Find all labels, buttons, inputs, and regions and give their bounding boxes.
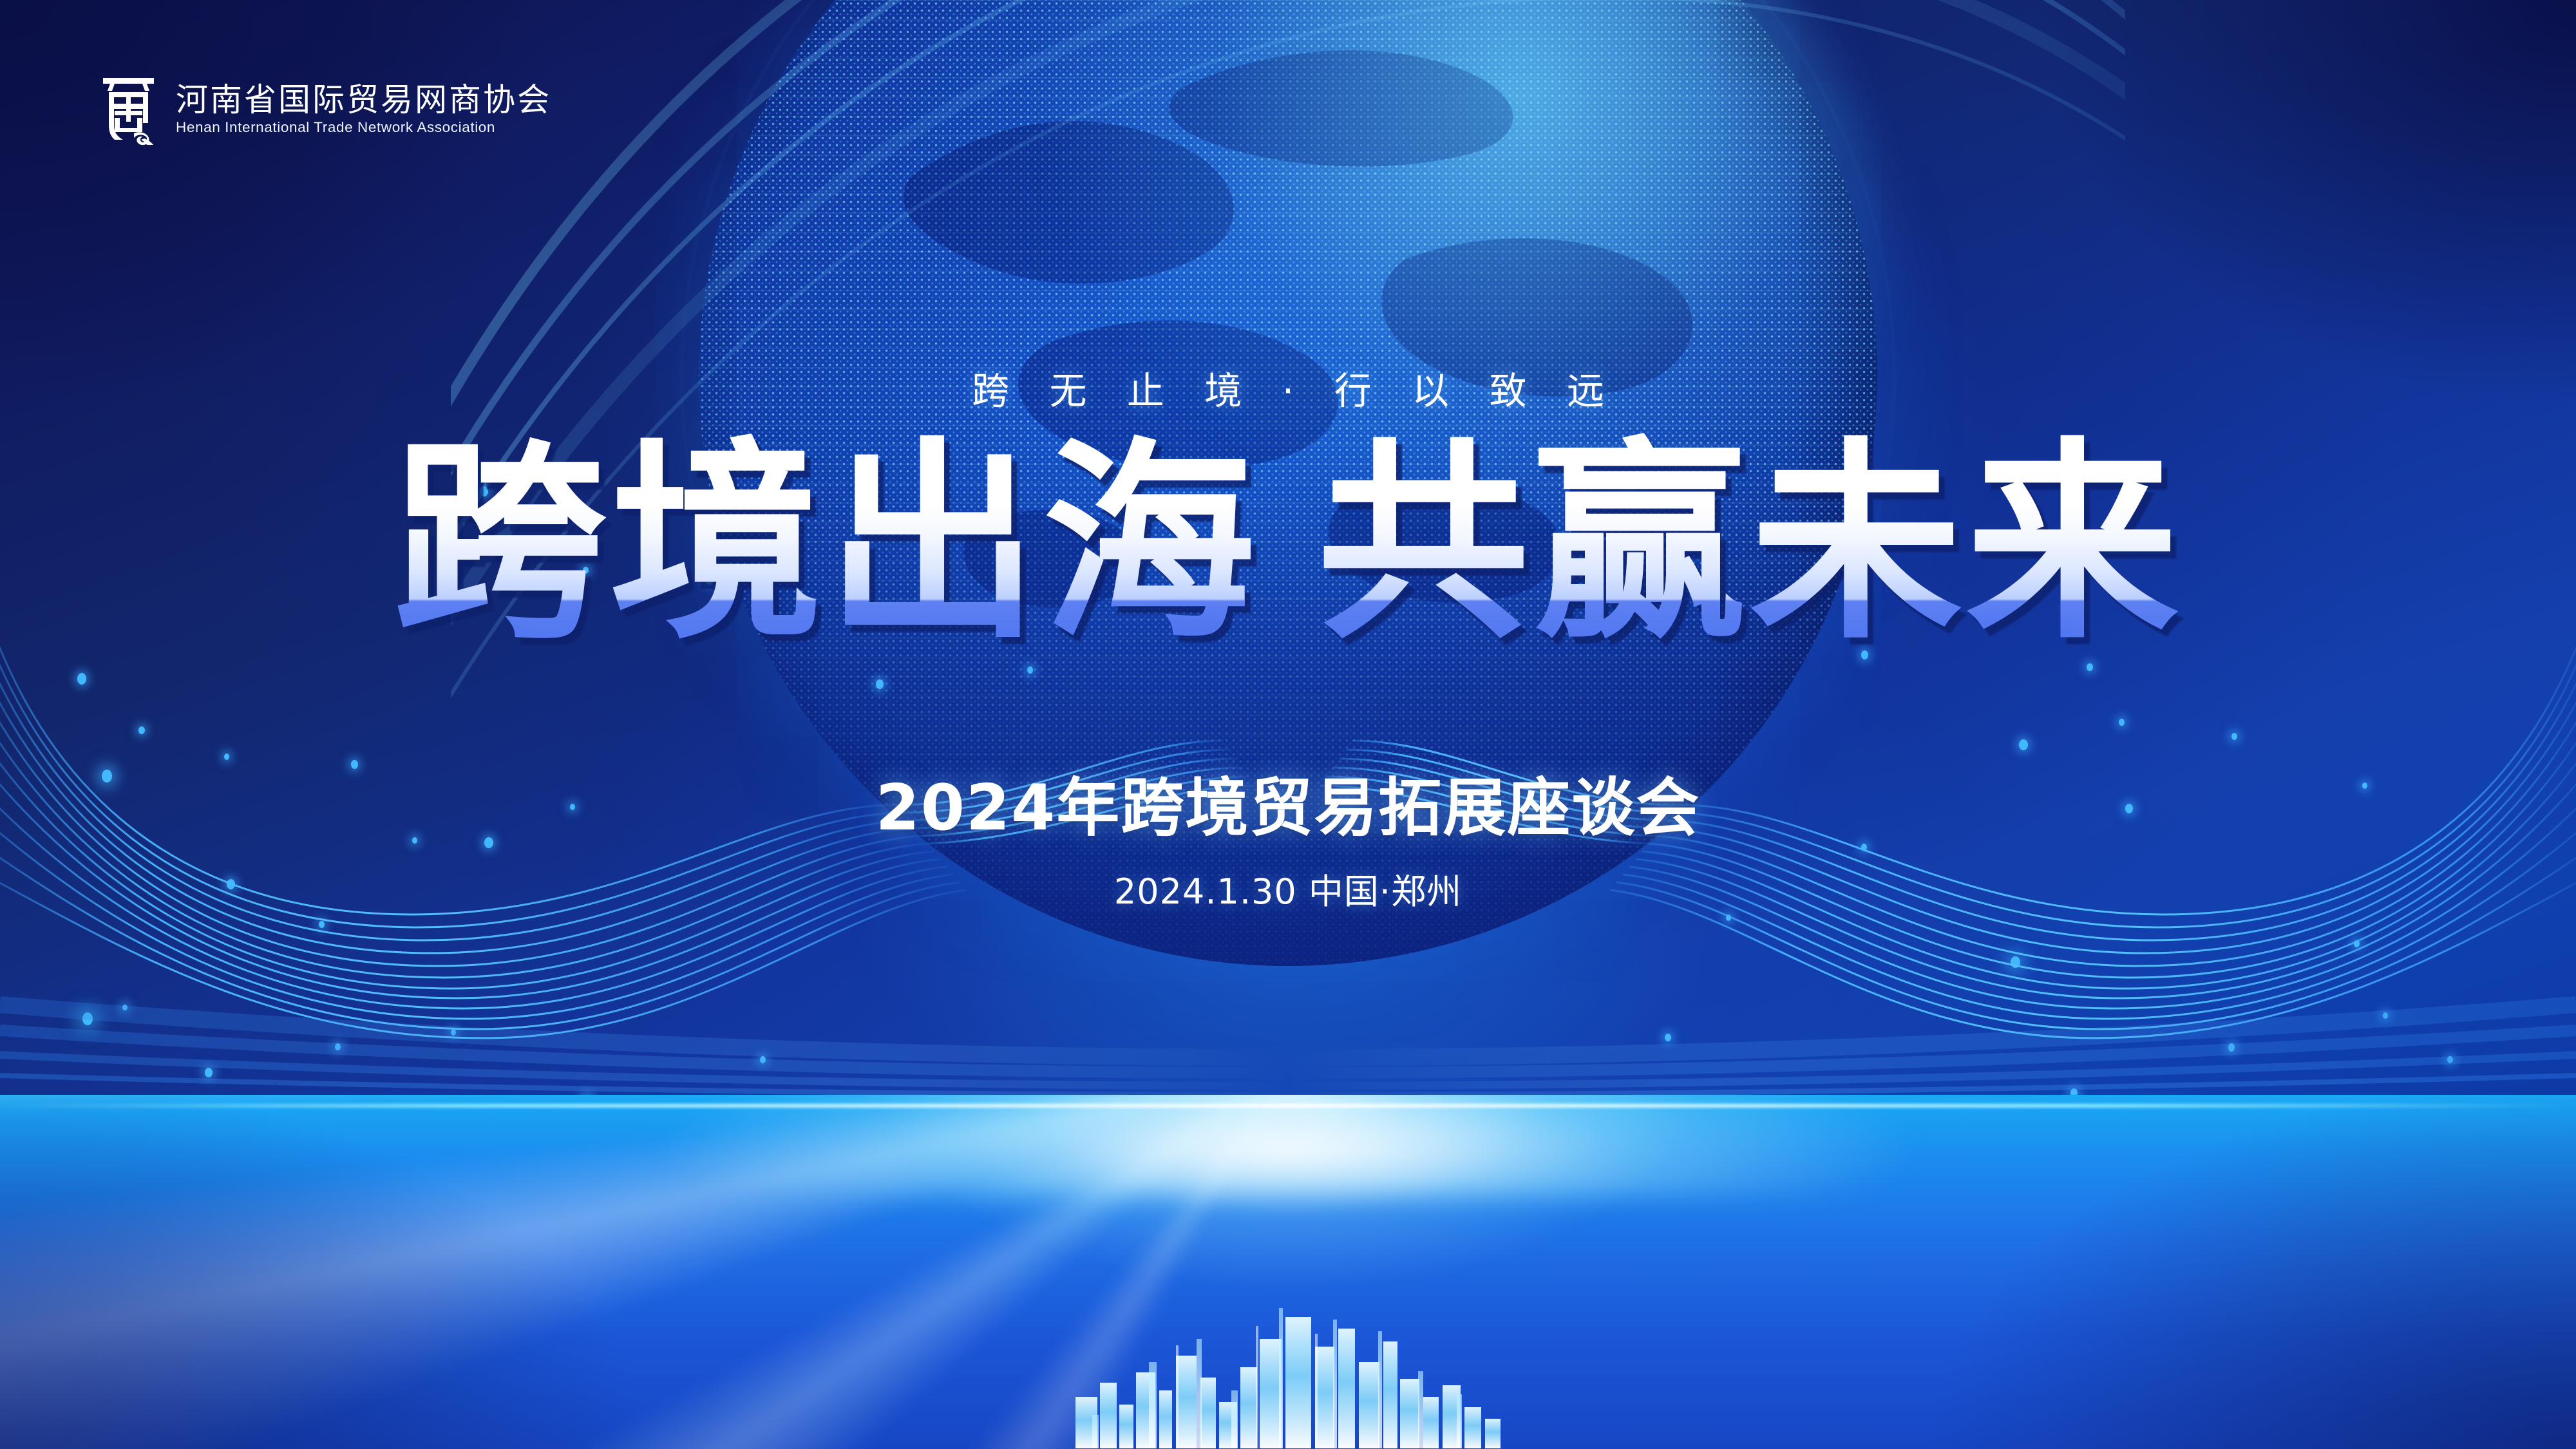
headline-right: 共赢未来 <box>1317 420 2183 667</box>
horizon-glow <box>0 1095 2576 1198</box>
organization-name-cn: 河南省国际贸易网商协会 <box>176 84 551 116</box>
city-skyline-icon <box>1063 1300 1513 1448</box>
sky-streak-bands-icon <box>0 979 2576 1108</box>
event-dateline: 2024.1.30 中国·郑州 <box>0 863 2576 914</box>
page-title: 跨境出海共赢未来 跨境出海共赢未来 跨境出海共赢未来 <box>0 425 2576 663</box>
event-subtitle: 2024年跨境贸易拓展座谈会 <box>0 757 2576 848</box>
organization-name-en: Henan International Trade Network Associ… <box>176 120 551 135</box>
organization-logo[interactable]: 河南省国际贸易网商协会 Henan International Trade Ne… <box>98 74 551 145</box>
headline-main-layer: 跨境出海共赢未来 <box>0 425 2576 663</box>
seal-script-logo-icon <box>98 74 159 145</box>
poster-canvas: 河南省国际贸易网商协会 Henan International Trade Ne… <box>0 0 2576 1449</box>
headline-left: 跨境出海 <box>393 420 1259 667</box>
event-tagline: 跨 无 止 境 · 行 以 致 远 <box>0 361 2576 415</box>
